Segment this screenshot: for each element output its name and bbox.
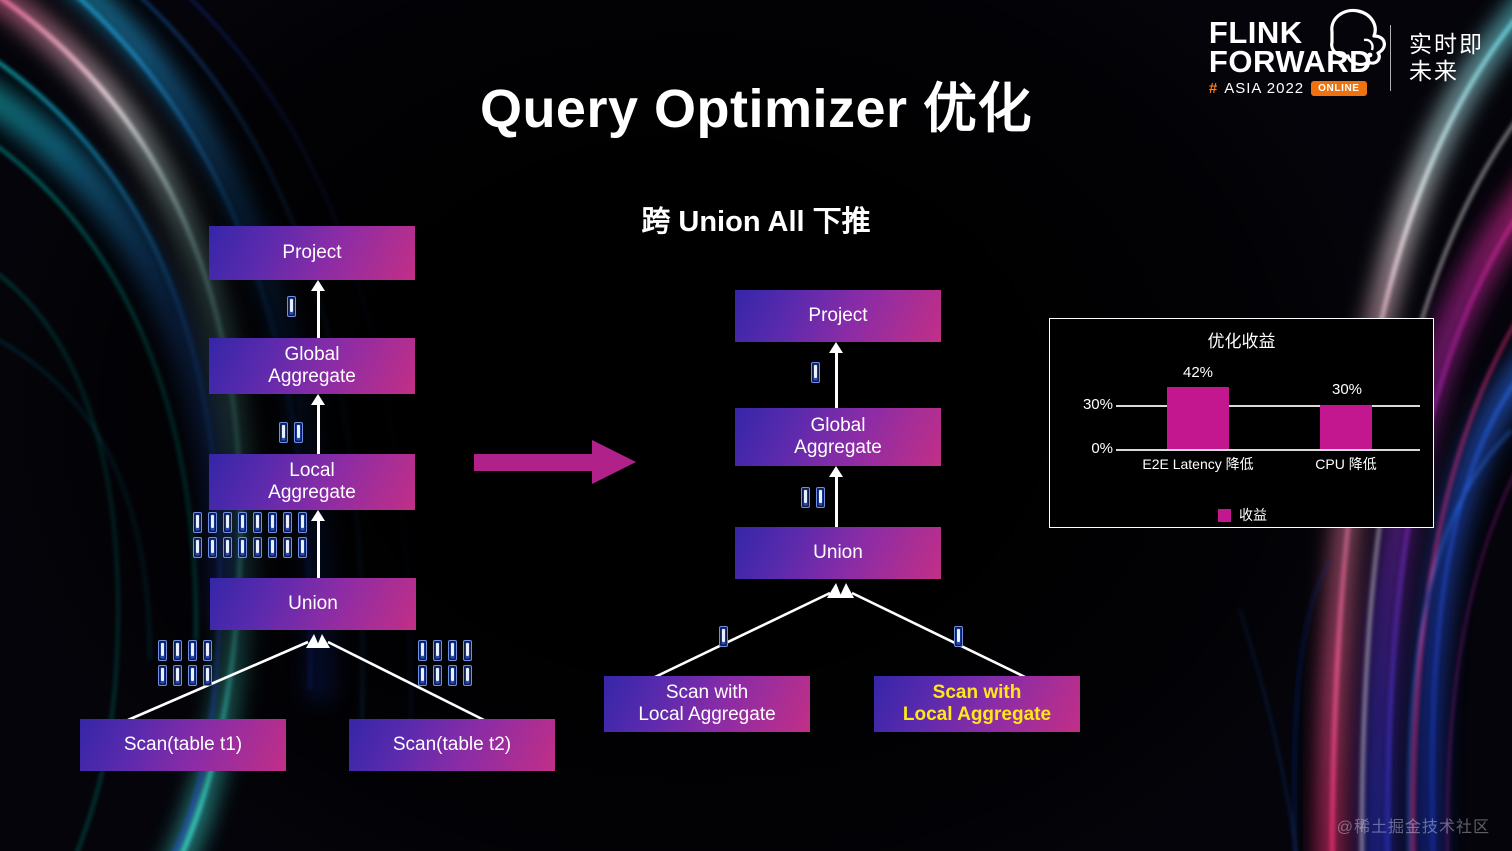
- node-global-aggregate-after: Global Aggregate: [735, 408, 941, 466]
- node-label: Union: [813, 542, 863, 564]
- record-glyph: [448, 665, 457, 686]
- record-glyph: [203, 665, 212, 686]
- record-glyph: [719, 626, 728, 647]
- record-glyph: [208, 537, 217, 558]
- records-scan-t1-to-union-before: [155, 638, 217, 688]
- node-label: Project: [282, 242, 341, 264]
- record-glyph: [298, 537, 307, 558]
- record-glyph: [463, 665, 472, 686]
- records-global-to-project-after: [808, 360, 824, 385]
- node-label-line1: Scan with: [666, 682, 748, 704]
- record-glyph: [188, 640, 197, 661]
- node-label-line2: Aggregate: [268, 366, 356, 388]
- squirrel-icon: [1316, 6, 1390, 73]
- record-glyph: [448, 640, 457, 661]
- record-glyph: [238, 537, 247, 558]
- record-glyph: [238, 512, 247, 533]
- records-scan-right-to-union-after: [951, 624, 967, 649]
- record-glyph: [253, 537, 262, 558]
- record-glyph: [173, 640, 182, 661]
- record-glyph: [287, 296, 296, 317]
- node-scan-with-local-aggregate-right-highlighted: Scan with Local Aggregate: [874, 676, 1080, 732]
- record-glyph: [463, 640, 472, 661]
- record-glyph: [418, 640, 427, 661]
- optimization-benefit-chart: 优化收益 30% 0% 42% 30% E2E Latency 降低 CPU 降…: [1049, 318, 1434, 528]
- edge-global-to-project-before: [310, 280, 326, 338]
- node-label-line2: Aggregate: [794, 437, 882, 459]
- records-global-to-project-before: [284, 294, 300, 319]
- edge-union-to-local-before: [310, 510, 326, 578]
- node-label: Project: [808, 305, 867, 327]
- node-label: Scan(table t1): [124, 734, 242, 756]
- record-glyph: [173, 665, 182, 686]
- record-glyph: [433, 640, 442, 661]
- edge-local-to-global-before: [310, 394, 326, 454]
- record-glyph: [208, 512, 217, 533]
- node-scan-t1: Scan(table t1): [80, 719, 286, 771]
- record-glyph: [433, 665, 442, 686]
- record-glyph: [283, 512, 292, 533]
- records-scan-t2-to-union-before: [415, 638, 477, 688]
- chart-plot-area: 30% 0% 42% 30% E2E Latency 降低 CPU 降低 收益: [1050, 319, 1435, 529]
- node-union-after: Union: [735, 527, 941, 579]
- record-glyph: [268, 537, 277, 558]
- record-glyph: [294, 422, 303, 443]
- gridline-30: [1116, 405, 1420, 407]
- record-glyph: [158, 665, 167, 686]
- bar-cpu: [1320, 405, 1372, 449]
- record-glyph: [223, 512, 232, 533]
- edges-scans-to-union-after: [605, 577, 1085, 681]
- record-glyph: [193, 512, 202, 533]
- ytick-label-30: 30%: [1083, 396, 1113, 413]
- node-scan-t2: Scan(table t2): [349, 719, 555, 771]
- records-union-to-local-before: [190, 510, 310, 560]
- node-label: Scan(table t2): [393, 734, 511, 756]
- record-glyph: [811, 362, 820, 383]
- record-glyph: [188, 665, 197, 686]
- node-project-before: Project: [209, 226, 415, 280]
- gridline-0: [1116, 449, 1420, 451]
- watermark: @稀土掘金技术社区: [1337, 813, 1490, 837]
- record-glyph: [279, 422, 288, 443]
- node-label-line2: Local Aggregate: [638, 704, 775, 726]
- records-local-to-global-before: [276, 420, 310, 445]
- record-glyph: [268, 512, 277, 533]
- chart-legend: 收益: [1050, 505, 1435, 525]
- legend-label: 收益: [1239, 505, 1267, 525]
- node-local-aggregate-before: Local Aggregate: [209, 454, 415, 510]
- node-label-line1: Global: [285, 344, 340, 366]
- node-label-line1: Scan with: [933, 682, 1022, 704]
- record-glyph: [283, 537, 292, 558]
- record-glyph: [954, 626, 963, 647]
- node-union-before: Union: [210, 578, 416, 630]
- node-label-line1: Global: [811, 415, 866, 437]
- records-scan-left-to-union-after: [716, 624, 732, 649]
- node-project-after: Project: [735, 290, 941, 342]
- node-label-line1: Local: [289, 460, 334, 482]
- record-glyph: [203, 640, 212, 661]
- edges-scans-to-union-before: [80, 628, 560, 724]
- bar-e2e-latency: [1167, 387, 1229, 449]
- ytick-label-0: 0%: [1091, 440, 1113, 457]
- xtick-label-e2e-latency: E2E Latency 降低: [1118, 454, 1278, 474]
- bar-value-label-e2e-latency: 42%: [1167, 364, 1229, 381]
- record-glyph: [298, 512, 307, 533]
- record-glyph: [253, 512, 262, 533]
- node-label-line2: Aggregate: [268, 482, 356, 504]
- record-glyph: [223, 537, 232, 558]
- record-glyph: [418, 665, 427, 686]
- records-union-to-global-after: [798, 485, 832, 510]
- record-glyph: [816, 487, 825, 508]
- slide-title: Query Optimizer 优化: [0, 64, 1512, 143]
- node-scan-with-local-aggregate-left: Scan with Local Aggregate: [604, 676, 810, 732]
- record-glyph: [801, 487, 810, 508]
- bar-value-label-cpu: 30%: [1316, 381, 1378, 398]
- record-glyph: [193, 537, 202, 558]
- node-label-line2: Local Aggregate: [903, 704, 1051, 726]
- legend-swatch: [1218, 509, 1231, 522]
- node-global-aggregate-before: Global Aggregate: [209, 338, 415, 394]
- edge-global-to-project-after: [828, 342, 844, 408]
- logo-tagline-line1: 实时即: [1409, 31, 1484, 58]
- record-glyph: [158, 640, 167, 661]
- transform-arrow-icon: [474, 440, 654, 484]
- xtick-label-cpu: CPU 降低: [1286, 454, 1406, 474]
- node-label: Union: [288, 593, 338, 615]
